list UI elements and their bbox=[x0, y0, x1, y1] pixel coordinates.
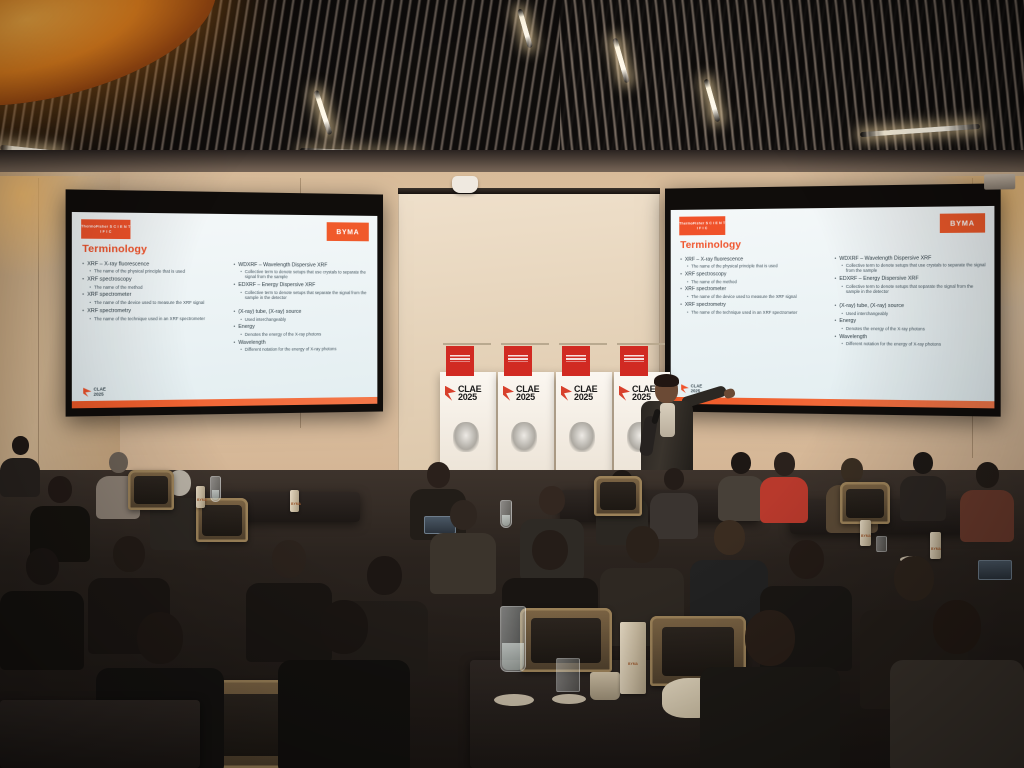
audience-head bbox=[427, 462, 450, 488]
audience-torso bbox=[430, 533, 496, 594]
bullet-marker-icon: • bbox=[89, 300, 91, 305]
bullet-secondary: •Denotes the energy of the X-ray photons bbox=[841, 326, 986, 332]
audience-torso bbox=[900, 476, 946, 521]
bullet-marker-icon: • bbox=[89, 284, 91, 289]
audience-head bbox=[774, 452, 795, 476]
audience-head bbox=[731, 452, 751, 474]
audience-torso bbox=[700, 667, 840, 768]
bullet-text: XRF spectroscopy bbox=[685, 271, 727, 277]
screen-mount-bracket bbox=[984, 174, 1015, 190]
slide-left-column: •XRF – X-ray fluorescence•The name of th… bbox=[82, 258, 224, 354]
bullet-marker-icon: • bbox=[680, 302, 682, 308]
banner-pole bbox=[443, 343, 491, 345]
bullet-marker-icon: • bbox=[89, 269, 91, 274]
audience-member bbox=[700, 610, 840, 768]
bullet-text: XRF spectrometer bbox=[685, 287, 726, 293]
audience-head bbox=[109, 452, 128, 473]
bullet-marker-icon: • bbox=[834, 276, 836, 282]
event-banner: CLAE2025 bbox=[498, 372, 554, 480]
bullet-secondary: •Used interchangeably bbox=[841, 311, 986, 317]
bullet-text: Denotes the energy of the X-ray photons bbox=[846, 326, 925, 332]
bullet-secondary: •The name of the technique used in an XR… bbox=[687, 309, 826, 314]
audience-head bbox=[272, 540, 306, 578]
bullet-marker-icon: • bbox=[687, 279, 688, 284]
bullet-text: (X-ray) tube, (X-ray) source bbox=[839, 303, 904, 309]
bullet-text: WDXRF – Wavelength Dispersive XRF bbox=[839, 255, 931, 262]
bullet-text: XRF – X-ray fluorescence bbox=[87, 261, 149, 268]
ceiling-speaker bbox=[452, 176, 478, 193]
laptop bbox=[978, 560, 1012, 580]
audience-head bbox=[714, 520, 745, 555]
banner-flag bbox=[504, 346, 532, 376]
bullet-secondary: •The name of the technique used in an XR… bbox=[89, 316, 224, 322]
bullet-text: EDXRF – Energy Dispersive XRF bbox=[238, 282, 315, 288]
bullet-text: Collective term to denote setups that us… bbox=[245, 269, 370, 280]
bullet-marker-icon: • bbox=[841, 326, 843, 331]
bullet-text: Collective term to denote setups that us… bbox=[846, 262, 986, 273]
bullet-marker-icon: • bbox=[841, 341, 843, 346]
bullet-primary: •WDXRF – Wavelength Dispersive XRF bbox=[834, 255, 986, 262]
audience-member bbox=[960, 462, 1014, 540]
byma-tumbler: BYMA bbox=[860, 520, 871, 546]
front-left-table bbox=[0, 700, 200, 768]
bullet-secondary: •Collective term to denote setups that s… bbox=[240, 290, 369, 300]
bullet-marker-icon: • bbox=[233, 340, 235, 346]
byma-tumbler-front: BYMA bbox=[620, 622, 646, 694]
bullet-text: (X-ray) tube, (X-ray) source bbox=[238, 309, 301, 315]
bullet-primary: •Wavelength bbox=[233, 339, 369, 346]
bullet-primary: •EDXRF – Energy Dispersive XRF bbox=[233, 282, 369, 289]
clae-footer-year: 2025 bbox=[94, 392, 106, 397]
audience-member bbox=[0, 548, 84, 668]
bullet-text: The name of the method bbox=[94, 284, 142, 289]
presenter-shirt bbox=[660, 403, 675, 437]
bullet-secondary: •Collective term to denote setups that u… bbox=[841, 262, 986, 273]
audience-member bbox=[760, 452, 808, 522]
bullet-marker-icon: • bbox=[233, 324, 235, 330]
bullet-marker-icon: • bbox=[834, 318, 836, 324]
bullet-primary: •XRF spectroscopy bbox=[680, 271, 825, 278]
audience-head bbox=[933, 600, 981, 654]
audience-member bbox=[900, 452, 946, 520]
bullet-secondary: •The name of the device used to measure … bbox=[687, 294, 826, 299]
audience-head bbox=[320, 600, 368, 654]
bullet-text: Energy bbox=[238, 324, 255, 330]
slide-left: ThermoFisher S C I E N T I F I C BYMA Te… bbox=[72, 212, 378, 408]
audience-member bbox=[718, 452, 764, 520]
bullet-primary: •Energy bbox=[233, 324, 369, 331]
bullet-marker-icon: • bbox=[834, 303, 836, 309]
audience-head bbox=[626, 526, 659, 563]
clae-mark-icon bbox=[83, 388, 91, 397]
bullet-secondary: •The name of the method bbox=[89, 284, 224, 290]
byma-logo-text: BYMA bbox=[336, 227, 359, 236]
bullet-marker-icon: • bbox=[233, 282, 235, 288]
clae-mark-icon bbox=[445, 386, 456, 401]
bullet-text: XRF spectrometer bbox=[87, 292, 131, 298]
clae-mark-icon bbox=[561, 386, 572, 401]
bullet-primary: •XRF spectrometry bbox=[82, 308, 224, 314]
bullet-text: The name of the physical principle that … bbox=[691, 263, 777, 269]
slide-title: Terminology bbox=[82, 243, 147, 256]
slide-title-2: Terminology bbox=[680, 239, 741, 251]
bullet-marker-icon: • bbox=[680, 287, 682, 293]
banner-pole bbox=[501, 343, 549, 345]
byma-logo: BYMA bbox=[327, 222, 369, 241]
bullet-text: The name of the physical principle that … bbox=[94, 269, 185, 275]
banner-pole bbox=[617, 343, 665, 345]
drinking-glass bbox=[876, 536, 887, 552]
water-carafe bbox=[500, 500, 512, 528]
bullet-marker-icon: • bbox=[233, 309, 235, 315]
slide-footer-logo: CLAE2025 bbox=[83, 387, 106, 396]
thermofisher-logo-text-2: ThermoFisher S C I E N T I F I C bbox=[679, 221, 725, 230]
byma-tumbler: BYMA bbox=[290, 490, 299, 512]
bullet-spacer bbox=[834, 294, 986, 300]
bullet-primary: •XRF spectrometer bbox=[680, 286, 825, 292]
bullet-text: The name of the technique used in an XRF… bbox=[94, 316, 205, 322]
bullet-text: Used interchangeably bbox=[846, 311, 888, 316]
byma-logo-text-2: BYMA bbox=[950, 218, 975, 227]
banner-logo: CLAE2025 bbox=[561, 385, 597, 402]
audience-head bbox=[450, 500, 477, 530]
banner-year: 2025 bbox=[458, 393, 481, 401]
bullet-secondary: •Different notation for the energy of X-… bbox=[841, 341, 986, 347]
banner-flag bbox=[620, 346, 648, 376]
bullet-primary: •XRF spectroscopy bbox=[82, 276, 224, 283]
banner-photo bbox=[502, 414, 550, 477]
thermofisher-logo: ThermoFisher S C I E N T I F I C bbox=[81, 219, 130, 239]
bullet-text: The name of the method bbox=[691, 279, 737, 284]
bullet-marker-icon: • bbox=[834, 256, 836, 262]
audience-member bbox=[890, 600, 1024, 768]
banner-photo bbox=[560, 414, 608, 477]
thermofisher-logo-2: ThermoFisher S C I E N T I F I C bbox=[679, 216, 725, 235]
bullet-text: XRF spectroscopy bbox=[87, 276, 131, 283]
banner-year: 2025 bbox=[516, 393, 539, 401]
bullet-text: Wavelength bbox=[238, 340, 265, 346]
audience-head bbox=[976, 462, 999, 488]
audience-head bbox=[367, 556, 402, 595]
audience-head bbox=[539, 486, 565, 515]
bullet-marker-icon: • bbox=[841, 263, 843, 273]
bullet-marker-icon: • bbox=[680, 256, 682, 262]
bullet-marker-icon: • bbox=[240, 347, 242, 352]
bullet-secondary: •Collective term to denote setups that s… bbox=[841, 284, 986, 295]
bullet-marker-icon: • bbox=[240, 316, 242, 321]
bullet-secondary: •Used interchangeably bbox=[240, 316, 369, 321]
slide-right-column: •WDXRF – Wavelength Dispersive XRF•Colle… bbox=[233, 259, 369, 353]
bullet-marker-icon: • bbox=[82, 292, 84, 298]
saucer-front-2 bbox=[552, 694, 586, 704]
bullet-marker-icon: • bbox=[89, 316, 91, 321]
bullet-text: Different notation for the energy of X-r… bbox=[846, 341, 941, 347]
audience-head bbox=[745, 610, 795, 666]
conference-room-photo: ThermoFisher S C I E N T I F I C BYMA Te… bbox=[0, 0, 1024, 768]
bullet-marker-icon: • bbox=[82, 261, 84, 267]
bullet-primary: •XRF spectrometry bbox=[680, 302, 825, 308]
audience-member bbox=[430, 500, 496, 592]
audience-head bbox=[664, 468, 684, 490]
audience-torso bbox=[890, 660, 1024, 768]
bullet-primary: •XRF spectrometer bbox=[82, 292, 224, 298]
bullet-marker-icon: • bbox=[82, 308, 84, 314]
bullet-text: Different notation for the energy of X-r… bbox=[245, 347, 337, 353]
bullet-secondary: •The name of the method bbox=[687, 279, 826, 285]
slide-left-column-2: •XRF – X-ray fluorescence•The name of th… bbox=[680, 253, 825, 347]
banner-pole bbox=[559, 343, 607, 345]
bullet-marker-icon: • bbox=[82, 276, 84, 282]
bullet-secondary: •The name of the physical principle that… bbox=[89, 269, 224, 275]
audience-torso bbox=[760, 477, 808, 523]
audience-torso bbox=[960, 490, 1014, 541]
bullet-text: The name of the device used to measure t… bbox=[691, 294, 796, 299]
bullet-marker-icon: • bbox=[233, 262, 235, 268]
banner-year: 2025 bbox=[574, 393, 597, 401]
bullet-marker-icon: • bbox=[841, 284, 843, 294]
bullet-text: WDXRF – Wavelength Dispersive XRF bbox=[238, 262, 327, 269]
audience-head bbox=[913, 452, 933, 474]
slide-accent-bar bbox=[72, 397, 378, 408]
banner-flag bbox=[562, 346, 590, 376]
event-banner: CLAE2025 bbox=[556, 372, 612, 480]
audience-head bbox=[894, 556, 934, 601]
bullet-marker-icon: • bbox=[240, 269, 242, 279]
bullet-secondary: •The name of the device used to measure … bbox=[89, 300, 224, 305]
audience-head bbox=[137, 612, 183, 664]
audience-head bbox=[532, 530, 568, 570]
presenter-hair bbox=[654, 374, 679, 387]
audience-head bbox=[48, 476, 72, 503]
bullet-primary: •Energy bbox=[834, 318, 986, 325]
bullet-primary: •XRF – X-ray fluorescence bbox=[680, 256, 825, 263]
bullet-text: Energy bbox=[839, 318, 856, 324]
bullet-marker-icon: • bbox=[687, 264, 688, 269]
audience-head bbox=[113, 536, 145, 572]
bullet-primary: •EDXRF – Energy Dispersive XRF bbox=[834, 276, 986, 283]
banner-logo: CLAE2025 bbox=[503, 385, 539, 402]
byma-tumbler: BYMA bbox=[196, 486, 205, 508]
bullet-text: EDXRF – Energy Dispersive XRF bbox=[839, 276, 918, 283]
bullet-text: Used interchangeably bbox=[245, 316, 286, 321]
chair bbox=[594, 476, 642, 516]
bullet-secondary: •Different notation for the energy of X-… bbox=[240, 346, 369, 352]
bullet-primary: •(X-ray) tube, (X-ray) source bbox=[834, 303, 986, 309]
drinking-glass-front bbox=[556, 658, 580, 692]
water-carafe-front bbox=[500, 606, 526, 672]
bullet-text: The name of the device used to measure t… bbox=[94, 300, 204, 305]
byma-logo-2: BYMA bbox=[940, 213, 985, 233]
bullet-primary: •WDXRF – Wavelength Dispersive XRF bbox=[233, 262, 369, 269]
bullet-marker-icon: • bbox=[834, 334, 836, 340]
audience-head bbox=[789, 540, 824, 579]
partition-rail bbox=[398, 188, 660, 194]
bullet-secondary: •Collective term to denote setups that u… bbox=[240, 269, 369, 280]
bullet-primary: •XRF – X-ray fluorescence bbox=[82, 261, 224, 268]
bullet-secondary: •The name of the physical principle that… bbox=[687, 263, 826, 269]
byma-tumbler: BYMA bbox=[930, 532, 941, 559]
bullet-text: XRF spectrometry bbox=[685, 302, 726, 308]
snack-bowl bbox=[590, 672, 620, 700]
audience-head bbox=[12, 436, 29, 455]
audience-torso bbox=[718, 476, 764, 521]
chair bbox=[128, 470, 174, 510]
clae-mark-icon bbox=[503, 386, 514, 401]
bullet-text: XRF – X-ray fluorescence bbox=[685, 256, 743, 262]
bullet-primary: •(X-ray) tube, (X-ray) source bbox=[233, 309, 369, 315]
projection-screen-left: ThermoFisher S C I E N T I F I C BYMA Te… bbox=[66, 189, 383, 416]
bullet-marker-icon: • bbox=[687, 294, 688, 299]
audience-torso bbox=[278, 660, 410, 768]
saucer-front bbox=[494, 694, 534, 706]
bullet-marker-icon: • bbox=[841, 311, 843, 316]
bullet-text: Wavelength bbox=[839, 334, 867, 340]
bullet-text: Collective term to denote setups that se… bbox=[245, 290, 370, 300]
chair bbox=[840, 482, 890, 524]
bullet-text: The name of the technique used in an XRF… bbox=[691, 309, 797, 314]
slide-right-column-2: •WDXRF – Wavelength Dispersive XRF•Colle… bbox=[834, 252, 986, 348]
audience-head bbox=[841, 458, 863, 483]
bullet-secondary: •Denotes the energy of the X-ray photons bbox=[240, 331, 369, 337]
bullet-marker-icon: • bbox=[240, 332, 242, 337]
audience-member bbox=[278, 600, 410, 768]
water-carafe bbox=[210, 476, 221, 502]
thermofisher-logo-text: ThermoFisher S C I E N T I F I C bbox=[81, 224, 130, 234]
banner-logo: CLAE2025 bbox=[445, 385, 481, 402]
bullet-spacer bbox=[233, 300, 369, 306]
bullet-marker-icon: • bbox=[240, 290, 242, 300]
audience-head bbox=[26, 548, 59, 585]
bullet-text: XRF spectrometry bbox=[87, 308, 131, 314]
audience-torso bbox=[0, 591, 84, 670]
bullet-primary: •Wavelength bbox=[834, 334, 986, 341]
banner-flag bbox=[446, 346, 474, 376]
bullet-text: Collective term to denote setups that se… bbox=[846, 284, 986, 295]
bullet-marker-icon: • bbox=[680, 272, 682, 278]
bullet-marker-icon: • bbox=[687, 309, 688, 314]
bullet-text: Denotes the energy of the X-ray photons bbox=[245, 332, 321, 338]
